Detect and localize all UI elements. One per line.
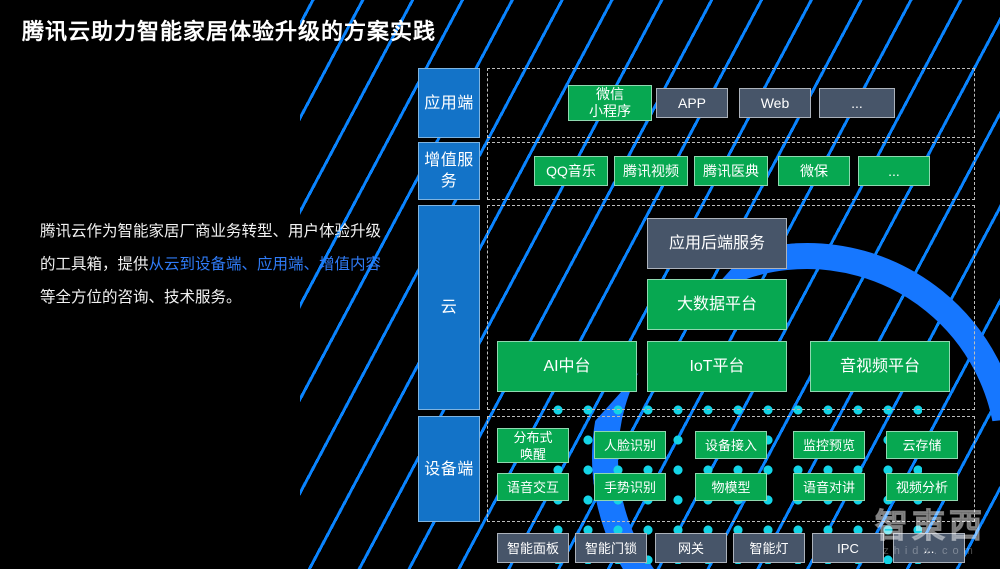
chip-thing-model[interactable]: 物模型 (695, 473, 767, 501)
chip-gesture-recognition[interactable]: 手势识别 (594, 473, 666, 501)
chip-cloud-storage[interactable]: 云存储 (886, 431, 958, 459)
chip-tencent-video[interactable]: 腾讯视频 (614, 156, 688, 186)
chip-voice-intercom[interactable]: 语音对讲 (793, 473, 865, 501)
chip-smart-panel[interactable]: 智能面板 (497, 533, 569, 563)
chip-smart-lock[interactable]: 智能门锁 (575, 533, 647, 563)
chip-face-recognition[interactable]: 人脸识别 (594, 431, 666, 459)
category-label-app-text: 应用端 (424, 93, 474, 114)
chip-tencent-medical[interactable]: 腾讯医典 (694, 156, 768, 186)
chip-hardware-more[interactable]: ... (893, 533, 965, 563)
description-text-part2: 等全方位的咨询、技术服务。 (40, 289, 242, 306)
chip-web[interactable]: Web (739, 88, 811, 118)
category-label-cloud-text: 云 (441, 297, 458, 318)
chip-app-backend-service[interactable]: 应用后端服务 (647, 218, 787, 269)
chip-value-more[interactable]: ... (858, 156, 930, 186)
category-label-app[interactable]: 应用端 (418, 68, 480, 138)
chip-device-access[interactable]: 设备接入 (695, 431, 767, 459)
chip-av-platform[interactable]: 音视频平台 (810, 341, 950, 392)
chip-qq-music[interactable]: QQ音乐 (534, 156, 608, 186)
chip-app[interactable]: APP (656, 88, 728, 118)
category-label-cloud[interactable]: 云 (418, 205, 480, 410)
chip-gateway[interactable]: 网关 (655, 533, 727, 563)
chip-iot-platform[interactable]: IoT平台 (647, 341, 787, 392)
chip-bigdata-platform[interactable]: 大数据平台 (647, 279, 787, 330)
chip-ipc[interactable]: IPC (812, 533, 884, 563)
chip-weibao[interactable]: 微保 (778, 156, 850, 186)
description-paragraph: 腾讯云作为智能家居厂商业务转型、用户体验升级的工具箱，提供从云到设备端、应用端、… (40, 215, 390, 314)
category-label-value-added-text: 增值服务 (419, 150, 479, 192)
chip-wechat-miniprogram[interactable]: 微信 小程序 (568, 85, 652, 121)
chip-ai-platform[interactable]: AI中台 (497, 341, 637, 392)
category-label-device-text: 设备端 (424, 459, 474, 480)
description-highlight: 从云到设备端、应用端、增值内容 (149, 256, 382, 273)
chip-app-more[interactable]: ... (819, 88, 895, 118)
category-label-device[interactable]: 设备端 (418, 416, 480, 522)
chip-video-analysis[interactable]: 视频分析 (886, 473, 958, 501)
chip-monitor-preview[interactable]: 监控预览 (793, 431, 865, 459)
chip-smart-light[interactable]: 智能灯 (733, 533, 805, 563)
category-label-value-added[interactable]: 增值服务 (418, 142, 480, 200)
slide-title: 腾讯云助力智能家居体验升级的方案实践 (22, 14, 436, 46)
chip-distributed-wakeup[interactable]: 分布式 唤醒 (497, 428, 569, 463)
zone-app (487, 68, 975, 138)
chip-voice-interaction[interactable]: 语音交互 (497, 473, 569, 501)
